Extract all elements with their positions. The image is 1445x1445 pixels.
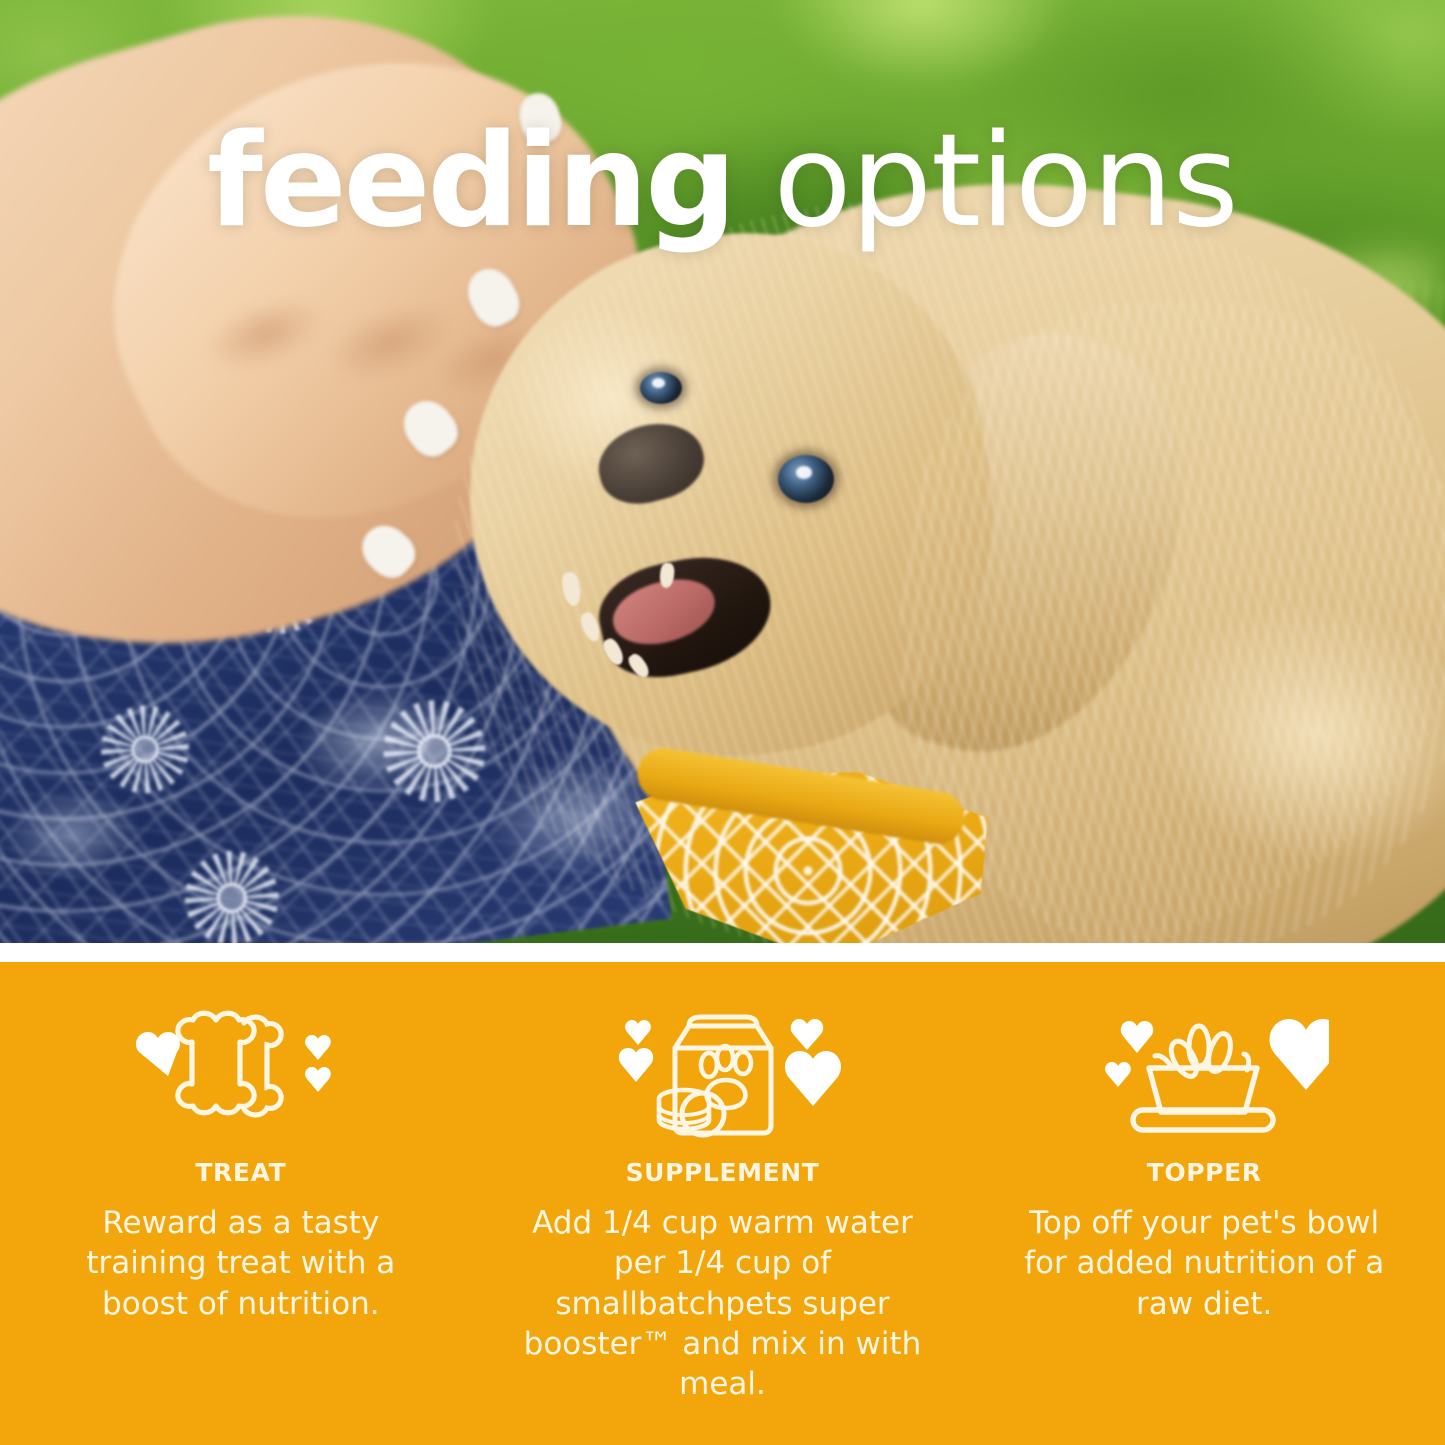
page-title-bold: feeding bbox=[207, 107, 734, 256]
page-title-light: options bbox=[734, 107, 1238, 256]
feeding-options-columns: TREAT Reward as a tasty training treat w… bbox=[0, 962, 1445, 1445]
dog-bowl-with-food-icon bbox=[1079, 1002, 1329, 1142]
dog-eye-right bbox=[778, 455, 834, 503]
blanket-flower-motif bbox=[395, 712, 473, 790]
page-title: feeding options bbox=[0, 118, 1445, 246]
food-bag-with-paw-and-scoop-icon bbox=[593, 1002, 853, 1142]
feeding-options-infographic: feeding options bbox=[0, 0, 1445, 1445]
hero-photo: feeding options bbox=[0, 0, 1445, 943]
feeding-option-body: Top off your pet's bowl for added nutrit… bbox=[1014, 1203, 1394, 1324]
feeding-option-title: SUPPLEMENT bbox=[626, 1158, 820, 1187]
feeding-option-topper: TOPPER Top off your pet's bowl for added… bbox=[963, 962, 1445, 1445]
feeding-option-supplement: SUPPLEMENT Add 1/4 cup warm water per 1/… bbox=[482, 962, 964, 1445]
white-divider bbox=[0, 943, 1445, 962]
dog-eye-left bbox=[640, 372, 682, 404]
dog-eye-highlight bbox=[652, 378, 665, 388]
feeding-option-treat: TREAT Reward as a tasty training treat w… bbox=[0, 962, 482, 1445]
feeding-option-title: TREAT bbox=[195, 1158, 286, 1187]
feeding-option-body: Add 1/4 cup warm water per 1/4 cup of sm… bbox=[508, 1203, 938, 1404]
blanket-flower-motif bbox=[197, 863, 266, 932]
feeding-options-panel: TREAT Reward as a tasty training treat w… bbox=[0, 962, 1445, 1445]
dog-bones-with-hearts-icon bbox=[126, 1002, 356, 1142]
blanket-flower-motif bbox=[114, 718, 176, 780]
feeding-option-title: TOPPER bbox=[1147, 1158, 1262, 1187]
feeding-option-body: Reward as a tasty training treat with a … bbox=[61, 1203, 421, 1324]
dog-eye-highlight bbox=[796, 466, 812, 479]
